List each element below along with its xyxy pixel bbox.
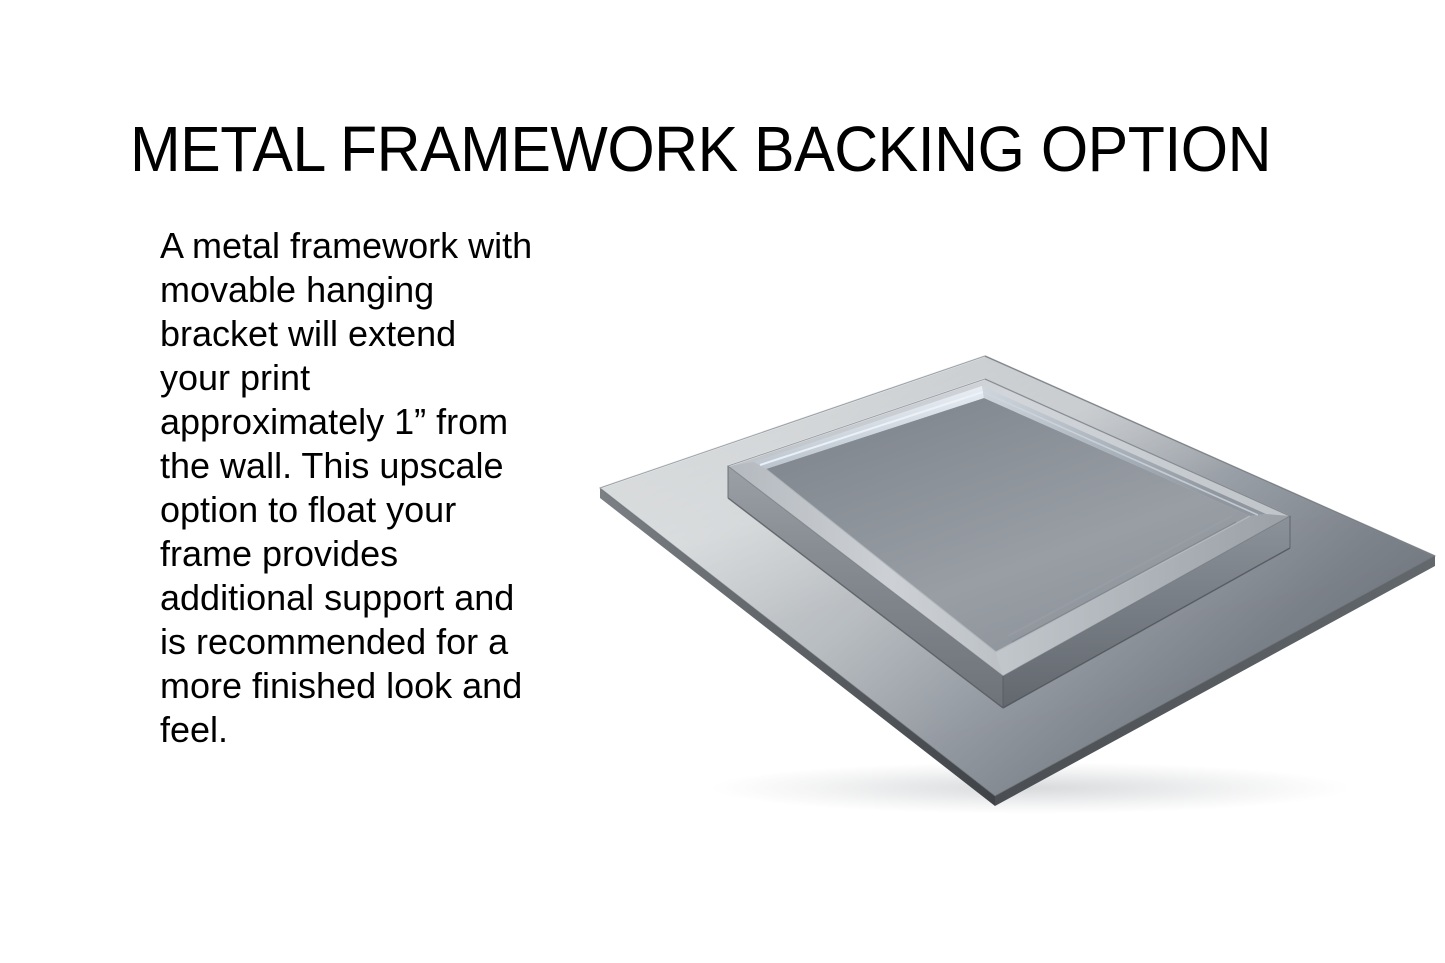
metal-framework-illustration bbox=[560, 336, 1445, 836]
body-line: frame provides bbox=[160, 532, 580, 576]
body-line: is recommended for a bbox=[160, 620, 580, 664]
body-line: additional support and bbox=[160, 576, 580, 620]
body-line: approximately 1” from bbox=[160, 400, 580, 444]
product-image-metal-framework-backing bbox=[560, 336, 1445, 836]
body-paragraph: A metal framework with movable hanging b… bbox=[160, 224, 580, 752]
body-line: the wall. This upscale bbox=[160, 444, 580, 488]
page-title: METAL FRAMEWORK BACKING OPTION bbox=[130, 117, 1270, 181]
body-line: more finished look and bbox=[160, 664, 580, 708]
body-line: bracket will extend bbox=[160, 312, 580, 356]
body-line: your print bbox=[160, 356, 580, 400]
body-line: feel. bbox=[160, 708, 580, 752]
body-line: option to float your bbox=[160, 488, 580, 532]
body-line: movable hanging bbox=[160, 268, 580, 312]
slide-canvas: METAL FRAMEWORK BACKING OPTION A metal f… bbox=[0, 0, 1445, 963]
body-line: A metal framework with bbox=[160, 224, 580, 268]
